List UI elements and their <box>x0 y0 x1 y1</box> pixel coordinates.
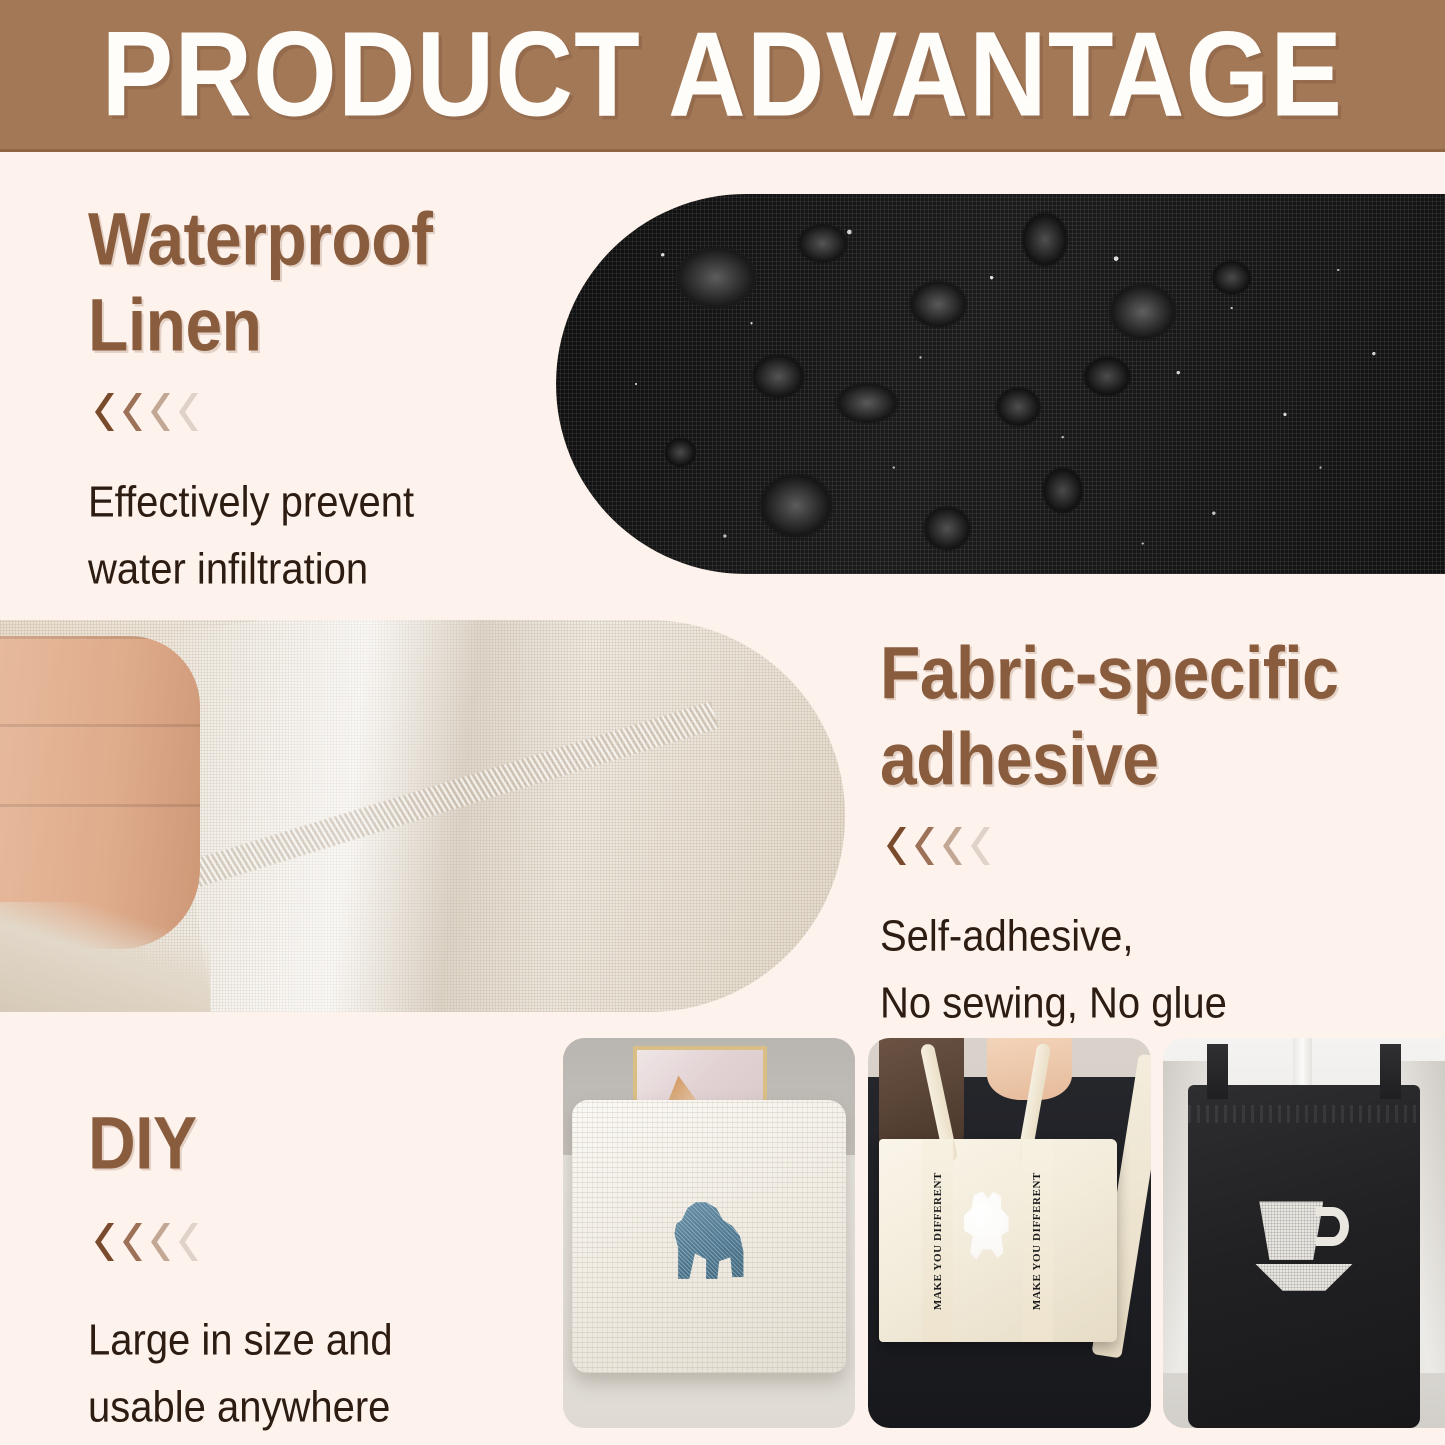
teacup-handle <box>1316 1207 1349 1246</box>
tote-bag-with-bear-patch: MAKE YOU DIFFERENT MAKE YOU DIFFERENT <box>868 1038 1151 1428</box>
linen-fold-highlight <box>158 620 738 1012</box>
pillow-room-scene <box>563 1038 855 1428</box>
teacup-saucer <box>1255 1264 1352 1291</box>
pillow-with-dog-patch <box>563 1038 855 1428</box>
feature-fabric-specific-adhesive: Fabric-specific adhesive Self-adhesive, … <box>880 630 1425 1027</box>
tote-strap-label-right: MAKE YOU DIFFERENT <box>1031 1172 1043 1310</box>
feature-heading-diy: DIY <box>88 1100 518 1186</box>
tote-model-scene: MAKE YOU DIFFERENT MAKE YOU DIFFERENT <box>868 1038 1151 1428</box>
feature-heading-waterproof: Waterproof Linen <box>88 196 538 367</box>
feature-waterproof-linen: Waterproof Linen Effectively prevent wat… <box>88 196 538 593</box>
water-droplet-spray <box>556 194 1445 574</box>
page-title: PRODUCT ADVANTAGE <box>102 14 1344 135</box>
chevrons-left-icon <box>88 391 538 433</box>
chevron-left-icon-3 <box>936 827 962 865</box>
feature-body-diy: Large in size and usable anywhere <box>88 1307 518 1441</box>
chevron-left-icon-4 <box>172 393 198 431</box>
apron-gathered-seam <box>1188 1105 1419 1122</box>
chevron-left-icon-3 <box>144 1223 170 1261</box>
feature-diy: DIY Large in size and usable anywhere <box>88 1100 518 1431</box>
chevrons-left-icon <box>880 825 1425 867</box>
chevron-left-icon-2 <box>116 1223 142 1261</box>
feature-body-waterproof: Effectively prevent water infiltration <box>88 469 538 603</box>
tote-strap-label-left: MAKE YOU DIFFERENT <box>932 1172 944 1310</box>
chevron-left-icon-2 <box>908 827 934 865</box>
teddy-bear-patch <box>955 1188 1017 1273</box>
apron-model-scene <box>1163 1038 1445 1428</box>
chevron-left-icon-1 <box>880 827 906 865</box>
linen-flap-corner <box>0 902 210 1012</box>
apron-neck-strap-right <box>1380 1044 1401 1099</box>
chevron-left-icon-2 <box>116 393 142 431</box>
chevron-left-icon-3 <box>144 393 170 431</box>
linen-fabric-photo <box>0 620 845 1012</box>
apron-neck-strap-left <box>1207 1044 1228 1099</box>
teacup-body <box>1259 1201 1323 1260</box>
chevron-left-icon-4 <box>172 1223 198 1261</box>
canvas-tote-bag: MAKE YOU DIFFERENT MAKE YOU DIFFERENT <box>879 1139 1117 1342</box>
cushion <box>572 1100 846 1373</box>
chevron-left-icon-1 <box>88 1223 114 1261</box>
header-banner: PRODUCT ADVANTAGE <box>0 0 1445 152</box>
feature-body-adhesive: Self-adhesive, No sewing, No glue <box>880 903 1425 1037</box>
black-apron <box>1188 1085 1419 1428</box>
chevrons-left-icon <box>88 1221 518 1263</box>
waterproof-fabric-photo <box>556 194 1445 574</box>
tote-strap-text-right: MAKE YOU DIFFERENT <box>1022 1139 1053 1342</box>
feature-heading-adhesive: Fabric-specific adhesive <box>880 630 1425 801</box>
apron-with-cup-patch <box>1163 1038 1445 1428</box>
teacup-patch <box>1255 1201 1352 1290</box>
chevron-left-icon-4 <box>964 827 990 865</box>
tote-strap-text-left: MAKE YOU DIFFERENT <box>922 1139 953 1342</box>
chevron-left-icon-1 <box>88 393 114 431</box>
